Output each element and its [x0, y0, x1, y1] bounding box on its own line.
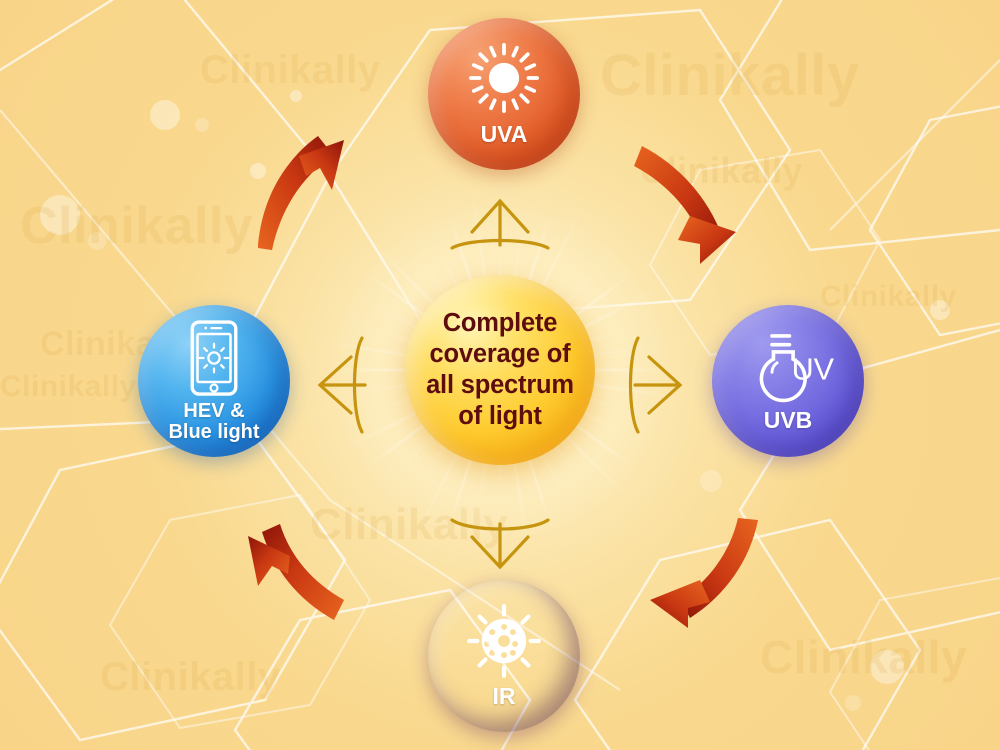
inner-arrow-right	[631, 338, 681, 432]
uv-lamp-icon: UV	[748, 330, 828, 400]
node-uva-label: UVA	[481, 122, 528, 146]
node-hev-label-line-1: HEV &	[168, 401, 259, 422]
node-ir-label: IR	[493, 684, 516, 708]
node-ir[interactable]: IR	[428, 580, 580, 732]
node-uvb-label: UVB	[764, 408, 813, 432]
center-label-line-2: coverage of	[426, 339, 574, 370]
uv-lamp-icon-text: UV	[792, 352, 835, 386]
node-hev-label: HEV & Blue light	[168, 401, 259, 443]
inner-arrow-up	[452, 201, 548, 248]
smartphone-brightness-icon	[189, 319, 239, 397]
node-hev-label-line-2: Blue light	[168, 422, 259, 443]
infographic-canvas: Clinikally Clinikally Clinikally Clinika…	[0, 0, 1000, 750]
inner-arrow-left	[320, 338, 365, 432]
center-label-line-1: Complete	[426, 308, 574, 339]
node-hev[interactable]: HEV & Blue light	[138, 305, 290, 457]
center-label-line-3: all spectrum	[426, 370, 574, 401]
center-node[interactable]: Complete coverage of all spectrum of lig…	[405, 275, 595, 465]
node-uvb[interactable]: UV UVB	[712, 305, 864, 457]
inner-arrow-down	[452, 520, 548, 567]
infrared-sun-icon	[467, 604, 541, 678]
center-label-line-4: of light	[426, 401, 574, 432]
node-uva[interactable]: UVA	[428, 18, 580, 170]
center-label: Complete coverage of all spectrum of lig…	[426, 308, 574, 432]
sun-icon	[468, 42, 540, 114]
